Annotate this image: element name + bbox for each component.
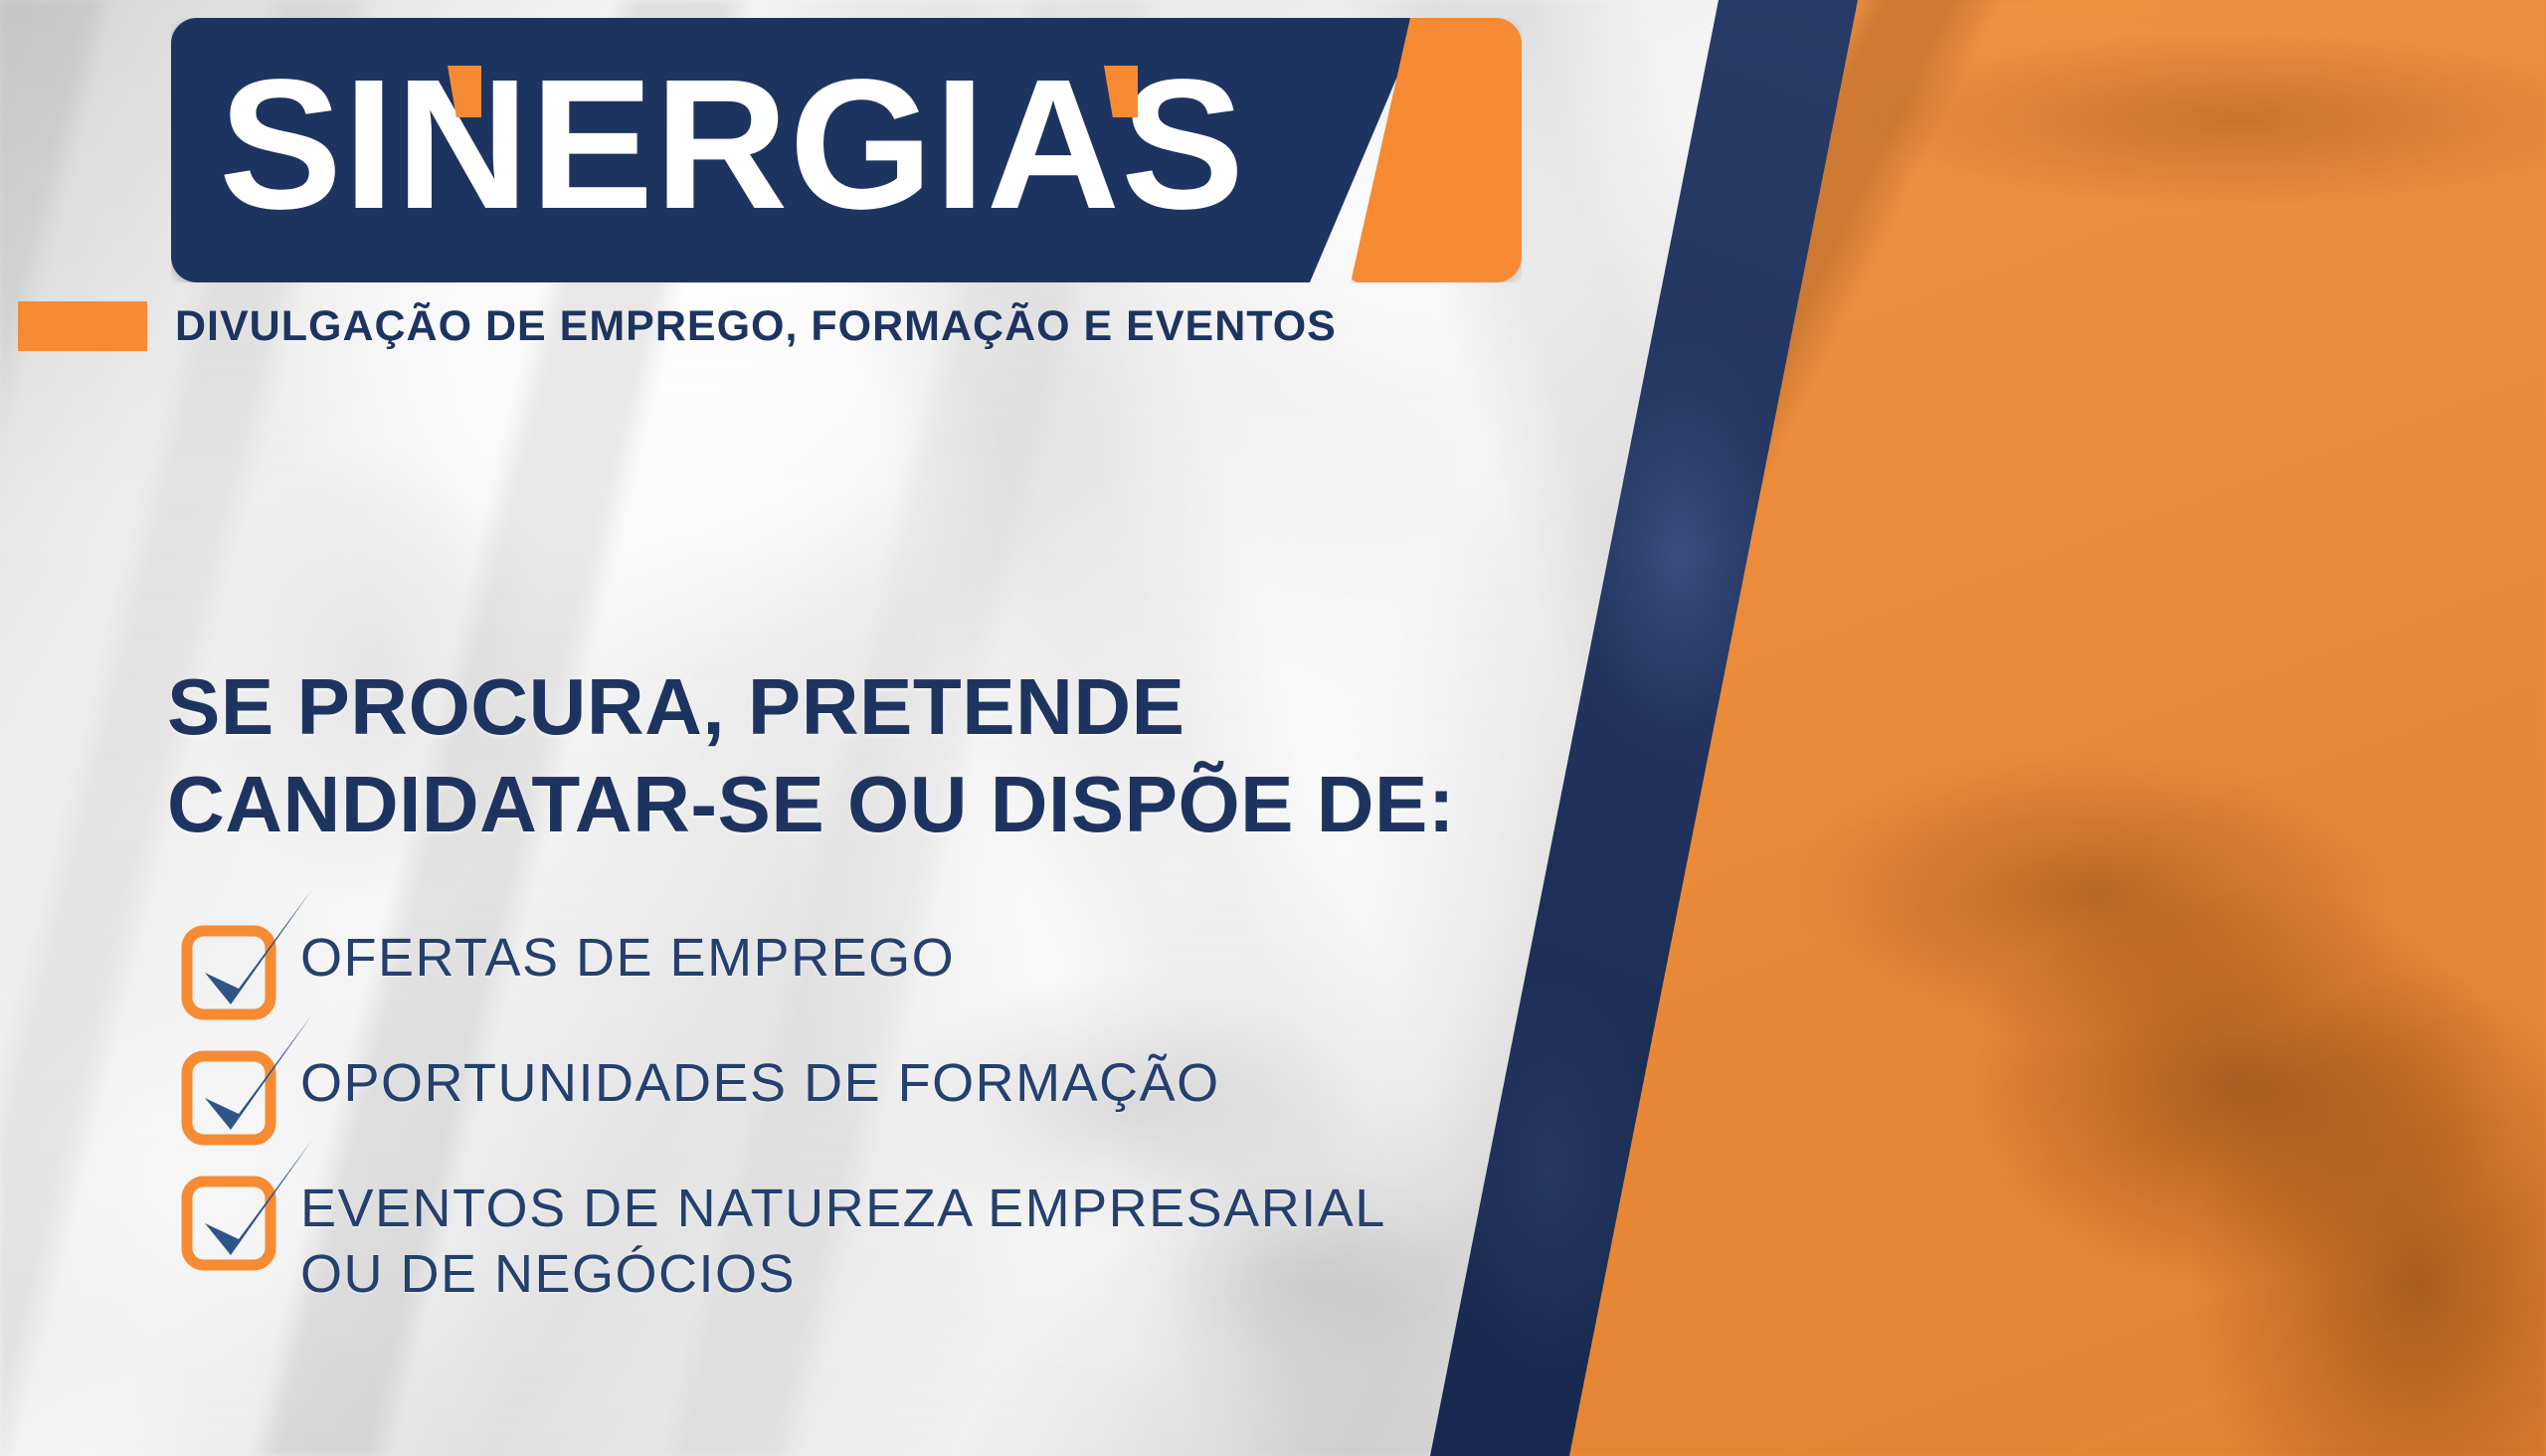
checklist-label-line: EVENTOS DE NATUREZA EMPRESARIAL [300,1176,1386,1241]
checklist-item-label: OFERTAS DE EMPREGO [300,925,955,991]
page-title: SE PROCURA, PRETENDE CANDIDATAR-SE OU DI… [167,658,1455,853]
headline-line-1: SE PROCURA, PRETENDE [167,658,1455,756]
checklist-item-ofertas-de-emprego[interactable]: OFERTAS DE EMPREGO [185,925,1386,1014]
poster-canvas: SINERGIAS DIVULGAÇÃO DE EMPREGO, FORMAÇÃ… [0,0,2546,1456]
tagline-row: DIVULGAÇÃO DE EMPREGO, FORMAÇÃO E EVENTO… [18,301,1337,351]
checklist-label-line: OU DE NEGÓCIOS [300,1241,1386,1307]
tagline-text: DIVULGAÇÃO DE EMPREGO, FORMAÇÃO E EVENTO… [175,302,1337,351]
headline-line-2: CANDIDATAR-SE OU DISPÕE DE: [167,756,1455,853]
checkbox-checked-icon[interactable] [185,1054,271,1140]
logo-navy-plate: SINERGIAS [171,18,1422,282]
checklist-item-oportunidades-de-formacao[interactable]: OPORTUNIDADES DE FORMAÇÃO [185,1050,1386,1140]
tagline-orange-block [18,301,147,351]
checklist-label-line: OFERTAS DE EMPREGO [300,925,955,991]
checkbox-checked-icon[interactable] [185,929,271,1014]
logo-lockup: SINERGIAS [171,18,1553,282]
logo-wordmark: SINERGIAS [219,39,1245,252]
checklist: OFERTAS DE EMPREGO OPORTUNIDADES DE FORM… [185,925,1386,1307]
checklist-item-label: OPORTUNIDADES DE FORMAÇÃO [300,1050,1220,1116]
checklist-item-eventos-de-natureza-empresarial[interactable]: EVENTOS DE NATUREZA EMPRESARIAL OU DE NE… [185,1176,1386,1307]
checklist-item-label: EVENTOS DE NATUREZA EMPRESARIAL OU DE NE… [300,1176,1386,1307]
checklist-label-line: OPORTUNIDADES DE FORMAÇÃO [300,1050,1220,1116]
checkbox-checked-icon[interactable] [185,1180,271,1265]
